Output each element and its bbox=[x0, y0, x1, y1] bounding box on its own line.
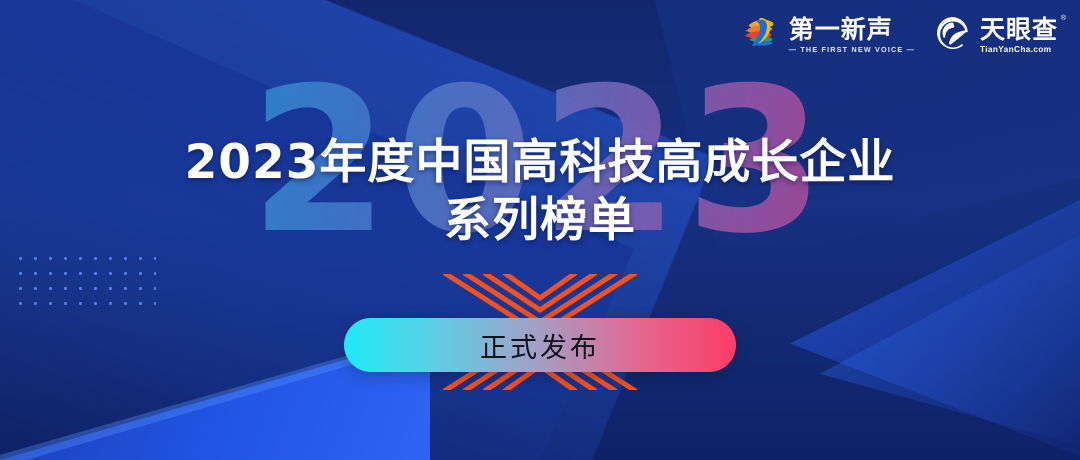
trademark-symbol: ® bbox=[1061, 15, 1066, 22]
logo-row: 第一新声 — THE FIRST NEW VOICE — 天眼查 ® TianY… bbox=[742, 14, 1058, 57]
swirl-logo-icon bbox=[742, 14, 780, 57]
logo-diyixinsheng-text: 第一新声 — THE FIRST NEW VOICE — bbox=[789, 17, 915, 53]
release-status-label: 正式发布 bbox=[480, 326, 600, 365]
aperture-eye-icon bbox=[935, 15, 971, 56]
logo-tianyancha-name: 天眼查 bbox=[980, 15, 1058, 44]
logo-tianyancha[interactable]: 天眼查 ® TianYanCha.com bbox=[935, 15, 1058, 56]
headline-line-1: 2023年度中国高科技高成长企业 bbox=[0, 134, 1080, 192]
logo-diyixinsheng[interactable]: 第一新声 — THE FIRST NEW VOICE — bbox=[742, 14, 915, 57]
promo-banner: 2023 2023年度中国高科技高成长企业 系列榜单 正式发布 bbox=[0, 0, 1080, 460]
headline-line-2: 系列榜单 bbox=[0, 192, 1080, 250]
logo-diyixinsheng-tagline: — THE FIRST NEW VOICE — bbox=[789, 46, 915, 53]
release-status-pill[interactable]: 正式发布 bbox=[344, 318, 736, 372]
logo-tianyancha-tagline: TianYanCha.com bbox=[980, 46, 1058, 54]
logo-diyixinsheng-name: 第一新声 bbox=[789, 17, 915, 42]
logo-tianyancha-name-wrap: 天眼查 ® bbox=[980, 17, 1058, 42]
logo-tianyancha-text: 天眼查 ® TianYanCha.com bbox=[980, 17, 1058, 54]
headline: 2023年度中国高科技高成长企业 系列榜单 bbox=[0, 134, 1080, 250]
